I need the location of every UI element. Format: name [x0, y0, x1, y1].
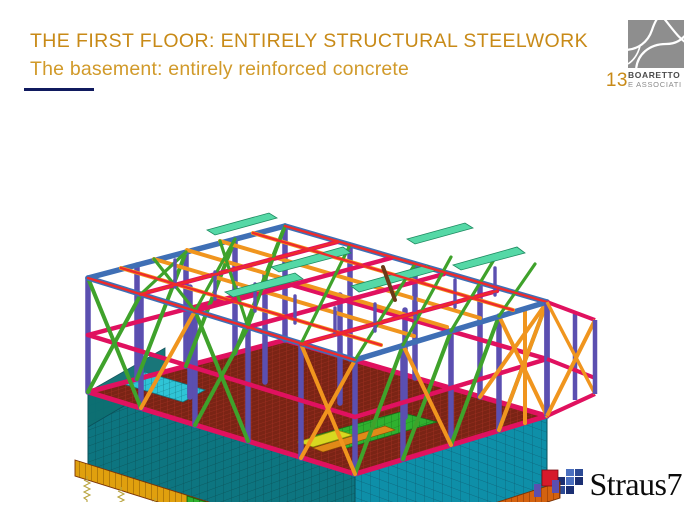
slide-title-block: THE FIRST FLOOR: ENTIRELY STRUCTURAL STE… — [30, 28, 590, 82]
company-logo: BOARETTO E ASSOCIATI — [628, 20, 690, 89]
presentation-slide: THE FIRST FLOOR: ENTIRELY STRUCTURAL STE… — [0, 0, 700, 525]
right-outrigger-frame — [547, 302, 595, 416]
boaretto-mark-icon — [628, 20, 684, 68]
corner-bearing-2 — [552, 480, 559, 493]
model-svg — [55, 82, 645, 502]
company-name: BOARETTO — [628, 70, 690, 80]
page-title: THE FIRST FLOOR: ENTIRELY STRUCTURAL STE… — [30, 28, 590, 54]
fea-model-view — [55, 82, 645, 502]
page-subtitle: The basement: entirely reinforced concre… — [30, 56, 590, 82]
corner-bearing — [534, 484, 541, 497]
